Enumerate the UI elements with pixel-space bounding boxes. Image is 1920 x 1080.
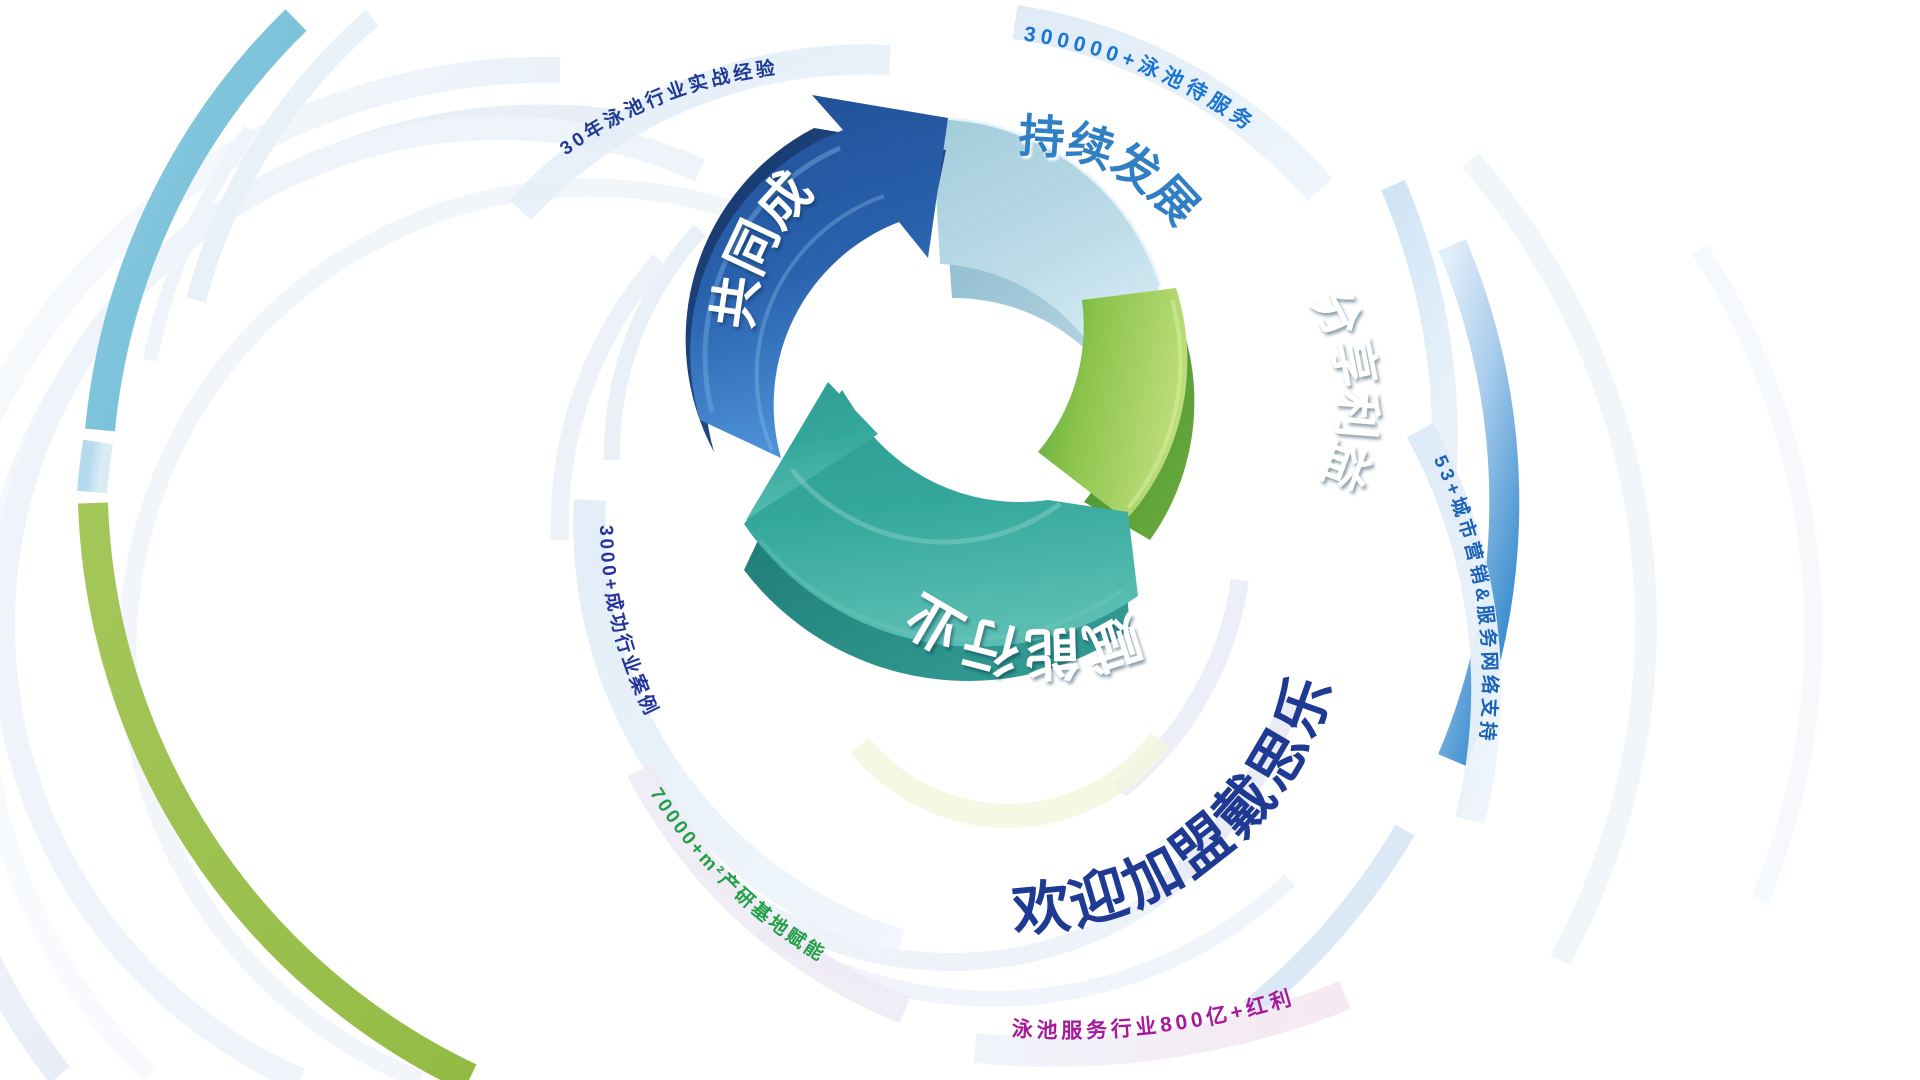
label-network: 53+城市营销&服务网络支持 <box>1429 452 1502 745</box>
curved-label-layer: 30年泳池行业实战经验 300000+泳池待服务 53+城市营销&服务网络支持 … <box>0 0 1920 1080</box>
label-cases: 3000+成功行业案例 <box>595 525 664 721</box>
label-market: 泳池服务行业800亿+红利 <box>1011 986 1298 1043</box>
page-headline: 欢迎加盟戴思乐 <box>1008 664 1346 944</box>
label-experience: 30年泳池行业实战经验 <box>556 56 779 160</box>
label-base: 70000+m²产研基地赋能 <box>645 784 830 966</box>
label-pools: 300000+泳池待服务 <box>1022 23 1260 138</box>
infographic-canvas: 持续发展 共同成长 分享利益 <box>0 0 1920 1080</box>
